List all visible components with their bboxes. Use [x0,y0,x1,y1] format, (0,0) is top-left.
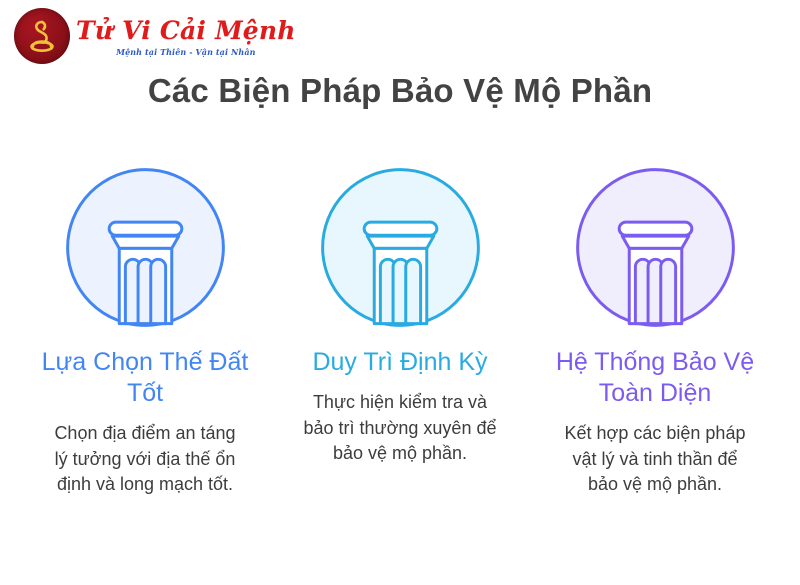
classical-pillar-icon [58,160,233,335]
brand-logo[interactable]: Tử Vi Cải Mệnh Mệnh tại Thiên - Vận tại … [14,8,296,64]
list-item-heading: Lựa Chọn Thế Đất Tốt [38,347,253,409]
list-item-body: Thực hiện kiểm tra và bảo trì thường xuy… [298,390,503,467]
list-item-heading: Hệ Thống Bảo Vệ Toàn Diện [548,347,763,409]
brand-tagline: Mệnh tại Thiên - Vận tại Nhân [76,48,296,56]
classical-pillar-icon [313,160,488,335]
brand-wordmark: Tử Vi Cải Mệnh [76,18,296,43]
meditation-figure-seal-icon [14,8,70,64]
list-item: Lựa Chọn Thế Đất Tốt Chọn địa điểm an tá… [18,160,273,498]
list-item: Duy Trì Định Kỳ Thực hiện kiểm tra và bả… [273,160,528,467]
measures-column-list: Lựa Chọn Thế Đất Tốt Chọn địa điểm an tá… [0,160,800,498]
list-item-body: Chọn địa điểm an táng lý tưởng với địa t… [46,421,244,498]
classical-pillar-icon [568,160,743,335]
list-item-body: Kết hợp các biện pháp vật lý và tinh thầ… [555,421,755,498]
list-item-heading: Duy Trì Định Kỳ [312,347,487,378]
page-title: Các Biện Pháp Bảo Vệ Mộ Phần [0,72,800,110]
list-item: Hệ Thống Bảo Vệ Toàn Diện Kết hợp các bi… [528,160,783,498]
